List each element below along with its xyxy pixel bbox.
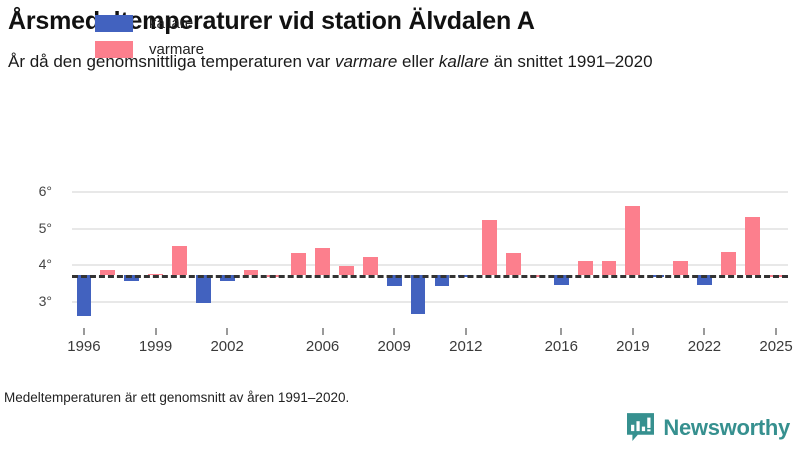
legend-label-colder: kallare bbox=[149, 15, 193, 32]
y-axis-tick-label: 4° bbox=[0, 256, 52, 272]
x-axis-tick bbox=[775, 328, 777, 335]
subtitle-emphasis-colder: kallare bbox=[439, 52, 489, 71]
bar-2010[interactable] bbox=[411, 275, 426, 314]
bar-2000[interactable] bbox=[172, 246, 187, 275]
legend-item-kallare: kallare bbox=[95, 10, 204, 36]
bar-2024[interactable] bbox=[745, 217, 760, 276]
legend-item-varmare: varmare bbox=[95, 36, 204, 62]
subtitle-emphasis-warmer: varmare bbox=[335, 52, 397, 71]
bar-2021[interactable] bbox=[673, 261, 688, 276]
legend-swatch-warmer-icon bbox=[95, 41, 133, 58]
bar-2006[interactable] bbox=[315, 248, 330, 276]
x-axis-tick-label: 2006 bbox=[306, 338, 339, 355]
x-axis-tick bbox=[83, 328, 85, 335]
x-axis-tick-label: 1996 bbox=[67, 338, 100, 355]
bar-2001[interactable] bbox=[196, 275, 211, 303]
chart-note: Medeltemperaturen är ett genomsnitt av å… bbox=[4, 390, 349, 405]
brand-logo: Newsworthy bbox=[627, 413, 790, 442]
x-axis-tick bbox=[322, 328, 324, 335]
plot-area: 3°4°5°6°19961999200220062009201220162019… bbox=[72, 180, 788, 325]
x-axis-tick-label: 2002 bbox=[210, 338, 243, 355]
legend-label-warmer: varmare bbox=[149, 41, 204, 58]
subtitle-text-3: än snittet 1991–2020 bbox=[489, 52, 653, 71]
baseline-average-line bbox=[72, 275, 788, 278]
bar-1996[interactable] bbox=[77, 275, 92, 315]
x-axis-tick bbox=[703, 328, 705, 335]
brand-name: Newsworthy bbox=[663, 415, 790, 441]
x-axis-tick-label: 2016 bbox=[545, 338, 578, 355]
subtitle-text-2: eller bbox=[397, 52, 439, 71]
x-axis-tick-label: 2019 bbox=[616, 338, 649, 355]
x-axis-tick-label: 2009 bbox=[378, 338, 411, 355]
y-axis-tick-label: 6° bbox=[0, 183, 52, 199]
x-axis-tick bbox=[465, 328, 467, 335]
x-axis-tick bbox=[393, 328, 395, 335]
y-axis-tick-label: 3° bbox=[0, 293, 52, 309]
x-axis-tick-label: 1999 bbox=[139, 338, 172, 355]
x-axis-tick-label: 2025 bbox=[759, 338, 792, 355]
gridline bbox=[72, 301, 788, 303]
bar-2017[interactable] bbox=[578, 261, 593, 276]
x-axis-tick bbox=[155, 328, 157, 335]
chart-page: Årsmedeltemperaturer vid station Älvdale… bbox=[0, 0, 800, 450]
bar-2013[interactable] bbox=[482, 220, 497, 275]
x-axis-tick-label: 2012 bbox=[449, 338, 482, 355]
x-axis-tick bbox=[560, 328, 562, 335]
gridline bbox=[72, 191, 788, 193]
y-axis-tick-label: 5° bbox=[0, 220, 52, 236]
chart-legend: kallare varmare bbox=[95, 10, 204, 62]
bar-2019[interactable] bbox=[625, 206, 640, 276]
bar-2007[interactable] bbox=[339, 266, 354, 275]
gridline bbox=[72, 228, 788, 230]
x-axis-tick bbox=[632, 328, 634, 335]
bar-2005[interactable] bbox=[291, 253, 306, 275]
legend-swatch-colder-icon bbox=[95, 15, 133, 32]
x-axis-tick-label: 2022 bbox=[688, 338, 721, 355]
bar-2008[interactable] bbox=[363, 257, 378, 275]
bar-2014[interactable] bbox=[506, 253, 521, 275]
bar-2018[interactable] bbox=[602, 261, 617, 276]
chart-plot: 3°4°5°6°19961999200220062009201220162019… bbox=[0, 168, 800, 340]
bar-2023[interactable] bbox=[721, 252, 736, 276]
bar-chart-bubble-icon bbox=[627, 413, 654, 442]
x-axis-tick bbox=[226, 328, 228, 335]
